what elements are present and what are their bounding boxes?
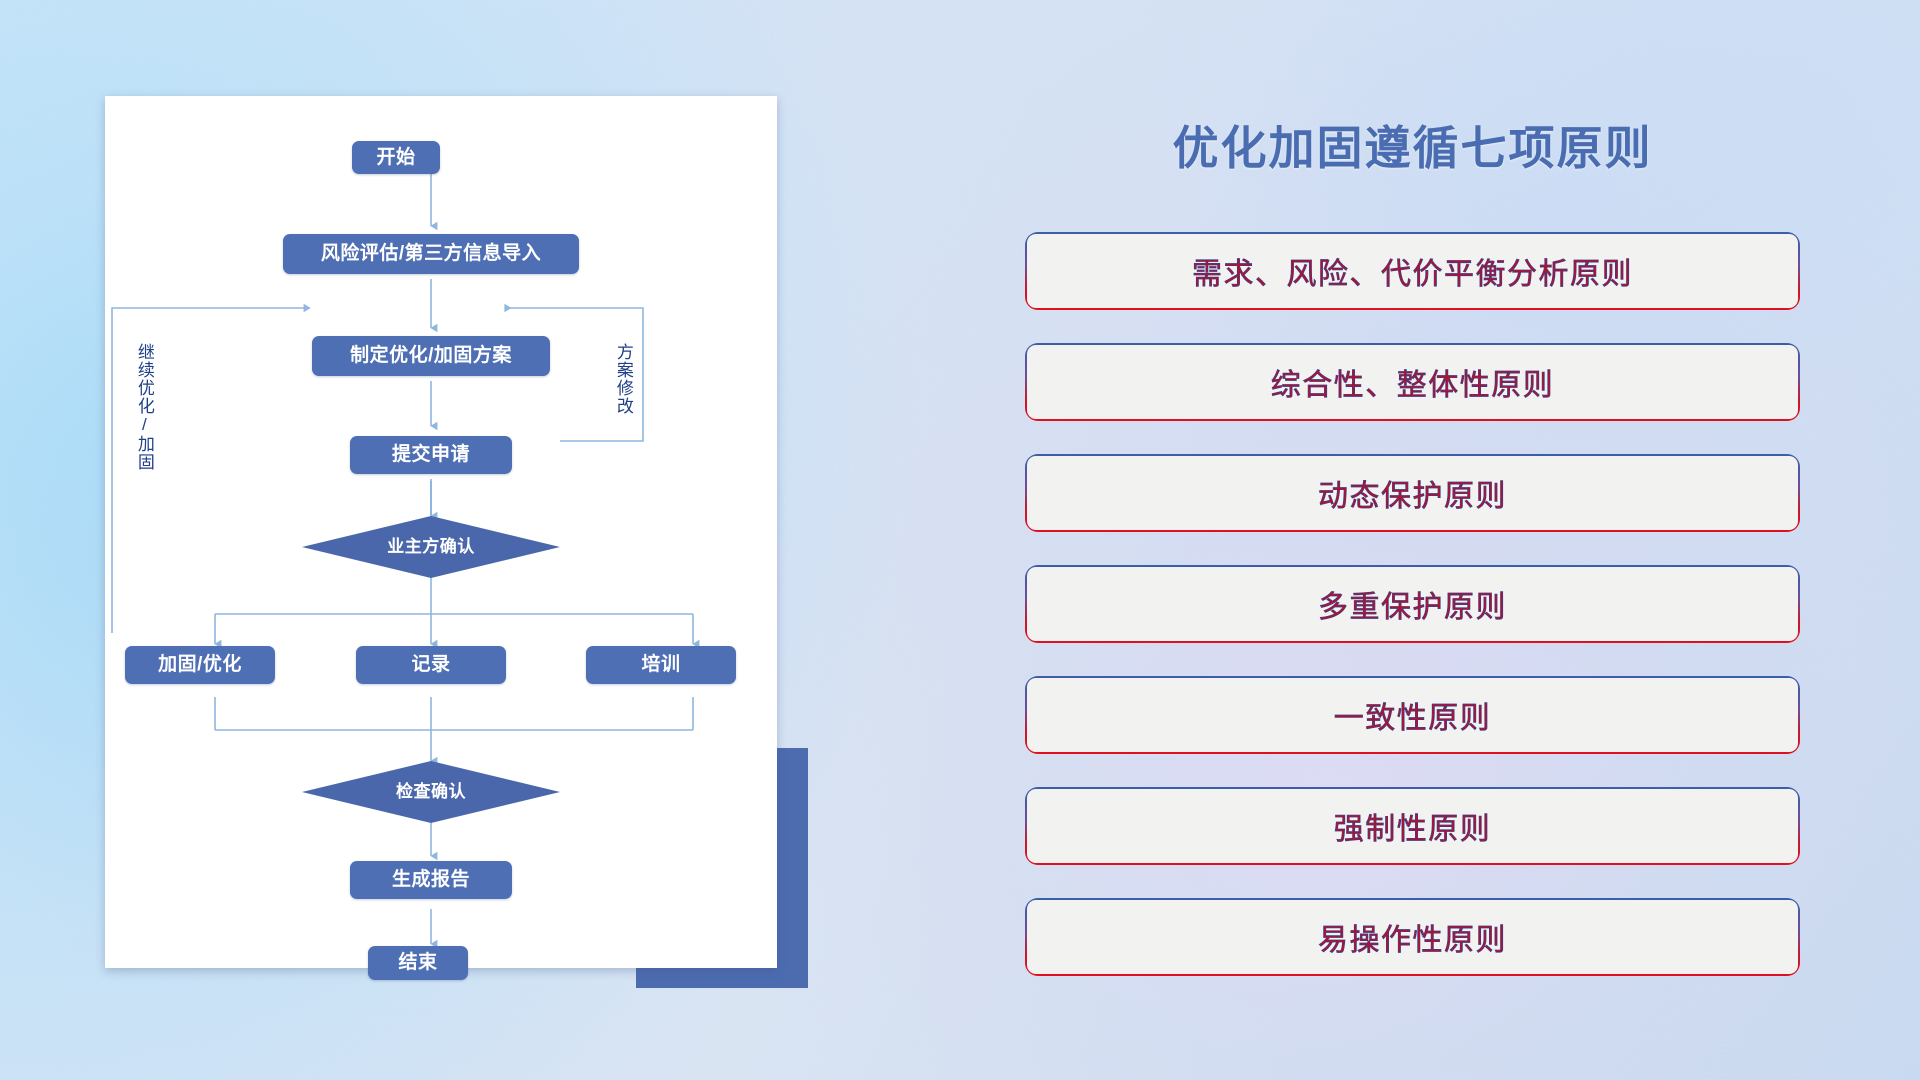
principle-card[interactable]: 一致性原则 (1025, 676, 1800, 754)
principle-label: 需求、风险、代价平衡分析原则 (1192, 249, 1633, 293)
flowchart: 开始 风险评估/第三方信息导入 制定优化/加固方案 提交申请 业主方确认 加固/… (105, 96, 777, 968)
flow-node-generate-report[interactable]: 生成报告 (350, 861, 512, 899)
edge-label-plan-revision: 方案修改 (614, 343, 632, 415)
flow-node-label: 提交申请 (392, 444, 470, 466)
flow-node-label: 生成报告 (392, 869, 470, 891)
flow-node-training[interactable]: 培训 (586, 646, 736, 684)
flow-node-label: 制定优化/加固方案 (350, 345, 512, 367)
principle-card[interactable]: 需求、风险、代价平衡分析原则 (1025, 232, 1800, 310)
flow-node-end[interactable]: 结束 (368, 946, 468, 980)
principle-card[interactable]: 综合性、整体性原则 (1025, 343, 1800, 421)
flow-node-label: 加固/优化 (158, 654, 242, 676)
principle-label: 一致性原则 (1334, 693, 1492, 737)
principle-label: 易操作性原则 (1318, 915, 1507, 959)
flow-node-label: 业主方确认 (387, 537, 475, 557)
flow-node-reinforce[interactable]: 加固/优化 (125, 646, 275, 684)
flow-node-label: 风险评估/第三方信息导入 (321, 243, 541, 265)
flow-node-label: 检查确认 (396, 782, 466, 802)
principle-card[interactable]: 易操作性原则 (1025, 898, 1800, 976)
principles-panel-title: 优化加固遵循七项原则 (1025, 112, 1800, 178)
principle-card[interactable]: 动态保护原则 (1025, 454, 1800, 532)
principle-label: 强制性原则 (1334, 804, 1492, 848)
principles-list: 需求、风险、代价平衡分析原则 综合性、整体性原则 动态保护原则 多重保护原则 一… (1025, 232, 1800, 1009)
principle-label: 动态保护原则 (1318, 471, 1507, 515)
flow-node-risk-assessment[interactable]: 风险评估/第三方信息导入 (283, 234, 579, 274)
flow-node-record[interactable]: 记录 (356, 646, 506, 684)
edge-label-continue-optimization: 继续优化/加固 (135, 343, 153, 471)
principle-label: 多重保护原则 (1318, 582, 1507, 626)
flow-node-label: 结束 (398, 952, 437, 974)
flow-node-label: 培训 (641, 654, 680, 676)
flow-node-inspection-confirmation[interactable]: 检查确认 (302, 761, 560, 823)
principle-card[interactable]: 多重保护原则 (1025, 565, 1800, 643)
flowchart-card: 开始 风险评估/第三方信息导入 制定优化/加固方案 提交申请 业主方确认 加固/… (105, 96, 777, 968)
flow-node-plan[interactable]: 制定优化/加固方案 (312, 336, 550, 376)
principle-card[interactable]: 强制性原则 (1025, 787, 1800, 865)
principle-label: 综合性、整体性原则 (1271, 360, 1555, 404)
flow-node-label: 开始 (376, 147, 415, 169)
flow-node-label: 记录 (411, 654, 450, 676)
flow-node-submit-application[interactable]: 提交申请 (350, 436, 512, 474)
flow-node-start[interactable]: 开始 (352, 141, 440, 174)
flow-node-owner-confirmation[interactable]: 业主方确认 (302, 516, 560, 578)
